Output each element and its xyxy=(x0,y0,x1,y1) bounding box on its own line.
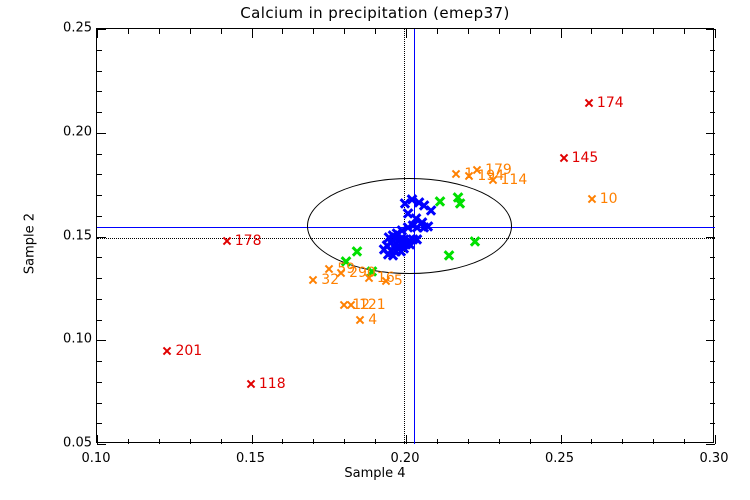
tick-mark xyxy=(97,278,102,279)
tick-mark xyxy=(97,29,98,38)
tick-mark xyxy=(710,403,715,404)
tick-mark xyxy=(710,154,715,155)
point-label: 145 xyxy=(572,150,599,166)
tick-mark xyxy=(622,29,623,34)
tick-mark xyxy=(437,29,438,34)
tick-mark xyxy=(190,439,191,444)
point-label: 1 xyxy=(464,166,473,182)
tick-mark xyxy=(706,340,715,341)
point-label: 4 xyxy=(368,312,377,328)
tick-mark xyxy=(282,29,283,34)
point-label: 5 xyxy=(394,273,403,289)
tick-mark xyxy=(591,29,592,34)
tick-mark xyxy=(499,29,500,34)
x-tick-label: 0.25 xyxy=(545,451,574,466)
tick-mark xyxy=(468,439,469,444)
tick-mark xyxy=(710,216,715,217)
tick-mark xyxy=(710,382,715,383)
tick-mark xyxy=(159,29,160,34)
tick-mark xyxy=(710,195,715,196)
tick-mark xyxy=(591,439,592,444)
tick-mark xyxy=(97,50,102,51)
x-tick-label: 0.20 xyxy=(391,451,420,466)
tick-mark xyxy=(706,29,715,30)
tick-mark xyxy=(684,439,685,444)
tick-mark xyxy=(97,71,102,72)
tick-mark xyxy=(710,278,715,279)
tick-mark xyxy=(715,435,716,444)
tick-mark xyxy=(97,382,102,383)
point-label: 290 xyxy=(349,265,376,281)
tick-mark xyxy=(715,29,716,38)
point-label: 121 xyxy=(359,297,386,313)
tick-mark xyxy=(128,29,129,34)
tick-mark xyxy=(221,29,222,34)
point-label: 16 xyxy=(377,270,395,286)
tick-mark xyxy=(344,29,345,34)
point-label: 201 xyxy=(175,343,202,359)
tick-mark xyxy=(710,361,715,362)
tick-mark xyxy=(468,29,469,34)
x-axis-label: Sample 4 xyxy=(0,466,750,481)
tick-mark xyxy=(97,435,98,444)
tick-mark xyxy=(97,91,102,92)
tick-mark xyxy=(710,112,715,113)
tick-mark xyxy=(437,439,438,444)
tick-mark xyxy=(561,435,562,444)
tick-mark xyxy=(710,320,715,321)
tick-mark xyxy=(97,216,102,217)
tick-mark xyxy=(375,29,376,34)
tick-mark xyxy=(282,439,283,444)
tick-mark xyxy=(710,91,715,92)
point-label: 114 xyxy=(501,172,528,188)
tick-mark xyxy=(97,320,102,321)
tick-mark xyxy=(97,195,102,196)
tick-mark xyxy=(97,299,102,300)
tick-mark xyxy=(653,29,654,34)
tick-mark xyxy=(97,403,102,404)
tick-mark xyxy=(406,29,407,38)
tick-mark xyxy=(97,444,106,445)
tick-mark xyxy=(97,423,102,424)
tick-mark xyxy=(375,439,376,444)
tick-mark xyxy=(252,29,253,38)
point-label: 174 xyxy=(597,95,624,111)
tick-mark xyxy=(710,299,715,300)
point-label: 10 xyxy=(600,191,618,207)
tick-mark xyxy=(561,29,562,38)
x-tick-label: 0.10 xyxy=(82,451,111,466)
chart-canvas: Calcium in precipitation (emep37) 0.050.… xyxy=(0,0,750,500)
tick-mark xyxy=(710,174,715,175)
tick-mark xyxy=(684,29,685,34)
y-axis-label: Sample 2 xyxy=(23,194,38,294)
tick-mark xyxy=(706,133,715,134)
tick-mark xyxy=(97,257,102,258)
tick-mark xyxy=(710,50,715,51)
tick-mark xyxy=(97,174,102,175)
x-tick-label: 0.15 xyxy=(236,451,265,466)
tick-mark xyxy=(530,29,531,34)
tick-mark xyxy=(97,112,102,113)
tick-mark xyxy=(97,340,106,341)
point-label: 178 xyxy=(235,233,262,249)
tick-mark xyxy=(221,439,222,444)
tick-mark xyxy=(252,435,253,444)
tick-mark xyxy=(622,439,623,444)
tick-mark xyxy=(97,361,102,362)
tick-mark xyxy=(499,439,500,444)
x-tick-label: 0.30 xyxy=(700,451,729,466)
tick-mark xyxy=(97,29,106,30)
tick-mark xyxy=(344,439,345,444)
tick-mark xyxy=(706,444,715,445)
tick-mark xyxy=(313,439,314,444)
tick-mark xyxy=(97,133,106,134)
tick-mark xyxy=(710,71,715,72)
tick-mark xyxy=(313,29,314,34)
tick-mark xyxy=(97,154,102,155)
tick-mark xyxy=(530,439,531,444)
tick-mark xyxy=(128,439,129,444)
tick-mark xyxy=(710,423,715,424)
tick-mark xyxy=(653,439,654,444)
tick-mark xyxy=(406,435,407,444)
tick-mark xyxy=(159,439,160,444)
tick-mark xyxy=(190,29,191,34)
plot-frame: 1741451782011181011791941143259290165121… xyxy=(96,28,714,443)
point-label: 118 xyxy=(259,376,286,392)
tick-mark xyxy=(710,257,715,258)
